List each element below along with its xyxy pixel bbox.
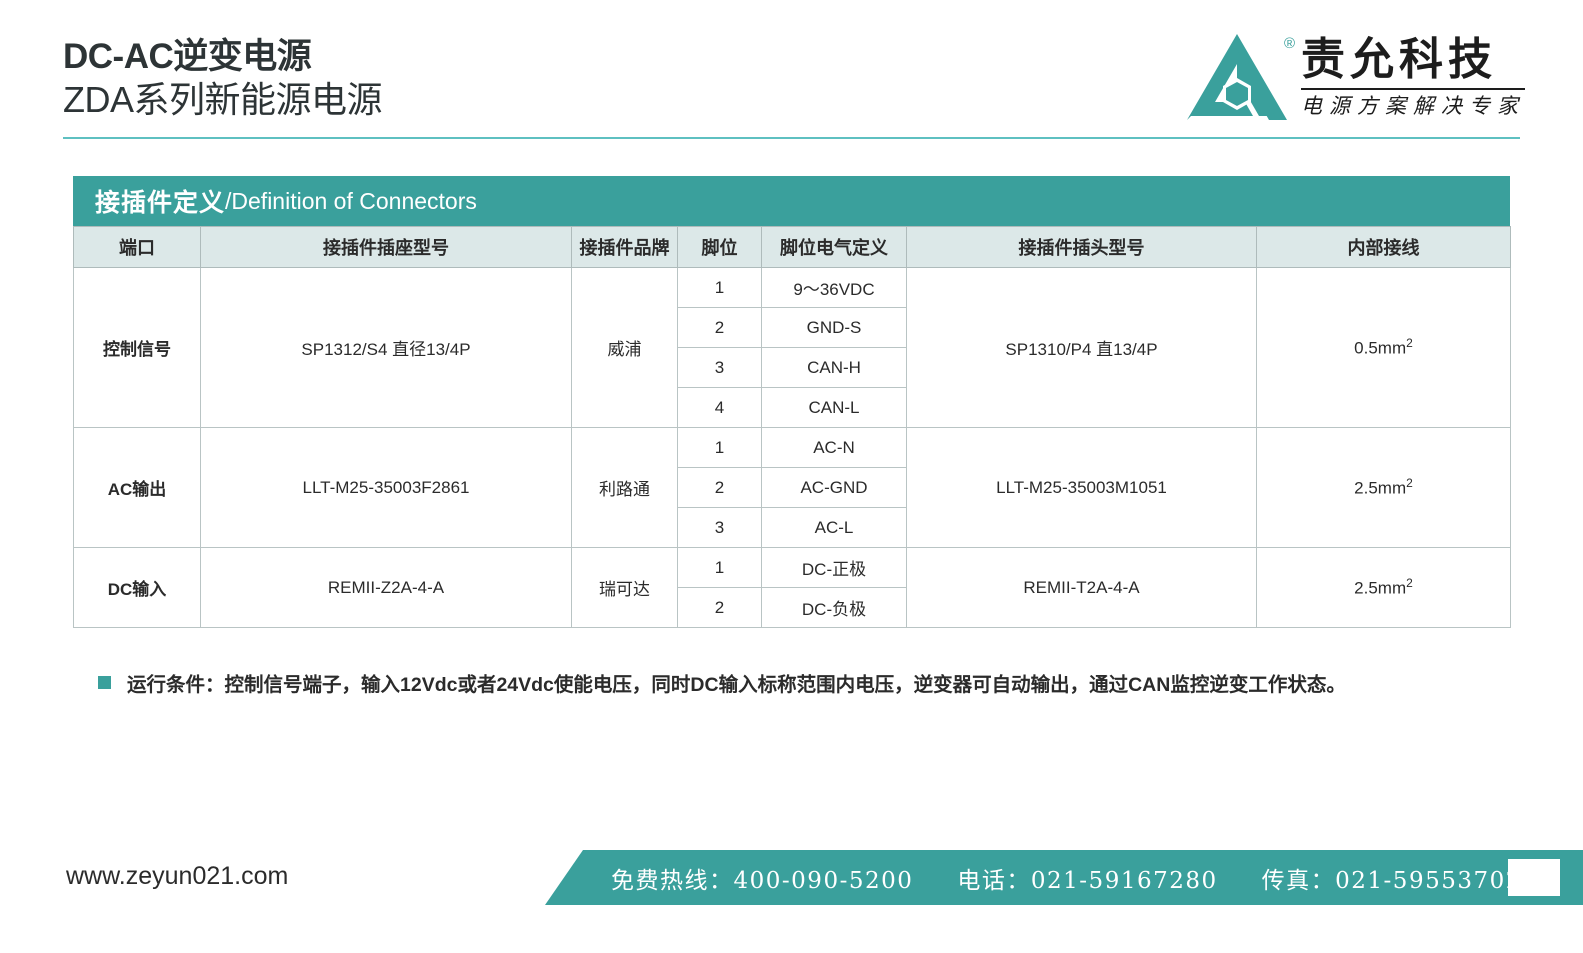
note-text: 运行条件：控制信号端子，输入12Vdc或者24Vdc使能电压，同时DC输入标称范… [127,668,1346,697]
cell-brand: 威浦 [572,268,678,428]
column-header-port: 端口 [74,227,201,268]
table-header-row: 端口 接插件插座型号 接插件品牌 脚位 脚位电气定义 接插件插头型号 内部接线 [74,227,1511,268]
cell-pin-definition: CAN-L [762,388,907,428]
footer-hotline: 免费热线：400-090-5200 [611,861,913,895]
cell-port: 控制信号 [74,268,201,428]
cell-pin-definition: CAN-H [762,348,907,388]
cell-pin-number: 2 [678,588,762,628]
wiring-value: 2.5mm [1354,579,1406,598]
cell-pin-number: 1 [678,268,762,308]
cell-pin-number: 1 [678,428,762,468]
section-title-bar: 接插件定义/Definition of Connectors [73,176,1510,226]
page-title: DC-AC逆变电源 ZDA系列新能源电源 [63,36,382,122]
cell-plug-model: SP1310/P4 直13/4P [907,268,1257,428]
wiring-unit-exponent: 2 [1406,336,1413,350]
cell-socket-model: REMII-Z2A-4-A [201,548,572,628]
cell-pin-number: 3 [678,508,762,548]
company-branding: ® 责允科技 电源方案解决专家 [1183,28,1525,126]
column-header-wiring: 内部接线 [1257,227,1511,268]
datasheet-page: DC-AC逆变电源 ZDA系列新能源电源 ® 责允科技 电源方案解决专家 [0,0,1583,953]
wiring-unit-exponent: 2 [1406,576,1413,590]
title-line-1: DC-AC逆变电源 [63,36,382,78]
cell-socket-model: SP1312/S4 直径13/4P [201,268,572,428]
cell-wiring: 0.5mm2 [1257,268,1511,428]
cell-pin-definition: DC-负极 [762,588,907,628]
cell-pin-number: 2 [678,308,762,348]
page-header: DC-AC逆变电源 ZDA系列新能源电源 ® 责允科技 电源方案解决专家 [0,0,1583,138]
cell-plug-model: REMII-T2A-4-A [907,548,1257,628]
cell-pin-definition: AC-GND [762,468,907,508]
operating-condition-note: 运行条件：控制信号端子，输入12Vdc或者24Vdc使能电压，同时DC输入标称范… [98,668,1346,697]
square-bullet-icon [98,676,111,689]
cell-pin-definition: 9～36VDC [762,268,907,308]
column-header-socket-model: 接插件插座型号 [201,227,572,268]
cell-port: AC输出 [74,428,201,548]
brand-name: 责允科技 [1301,34,1525,86]
cell-wiring: 2.5mm2 [1257,428,1511,548]
cell-pin-definition: AC-L [762,508,907,548]
cell-brand: 利路通 [572,428,678,548]
wiring-value: 2.5mm [1354,479,1406,498]
column-header-pin-definition: 脚位电气定义 [762,227,907,268]
cell-plug-model: LLT-M25-35003M1051 [907,428,1257,548]
cell-pin-number: 1 [678,548,762,588]
cell-pin-number: 4 [678,388,762,428]
column-header-brand: 接插件品牌 [572,227,678,268]
section-title-en: /Definition of Connectors [225,188,477,215]
page-number-box [1508,859,1560,896]
cell-pin-definition: GND-S [762,308,907,348]
column-header-plug-model: 接插件插头型号 [907,227,1257,268]
header-divider [63,137,1520,139]
table-row: AC输出 LLT-M25-35003F2861 利路通 1 AC-N LLT-M… [74,428,1511,468]
table-row: 控制信号 SP1312/S4 直径13/4P 威浦 1 9～36VDC SP13… [74,268,1511,308]
website-link[interactable]: www.zeyun021.com [66,862,288,891]
cell-brand: 瑞可达 [572,548,678,628]
brand-divider [1301,88,1525,90]
wiring-unit-exponent: 2 [1406,476,1413,490]
footer-phone: 电话：021-59167280 [957,861,1217,895]
column-header-pin: 脚位 [678,227,762,268]
cell-pin-number: 2 [678,468,762,508]
title-line-2: ZDA系列新能源电源 [63,78,382,122]
company-logo-icon: ® [1183,28,1291,126]
cell-wiring: 2.5mm2 [1257,548,1511,628]
brand-text-block: 责允科技 电源方案解决专家 [1301,28,1525,119]
cell-pin-number: 3 [678,348,762,388]
table-row: DC输入 REMII-Z2A-4-A 瑞可达 1 DC-正极 REMII-T2A… [74,548,1511,588]
brand-slogan: 电源方案解决专家 [1301,93,1525,119]
cell-pin-definition: DC-正极 [762,548,907,588]
wiring-value: 0.5mm [1354,339,1406,358]
connector-definition-table: 端口 接插件插座型号 接插件品牌 脚位 脚位电气定义 接插件插头型号 内部接线 … [73,226,1511,628]
cell-pin-definition: AC-N [762,428,907,468]
section-title-cn: 接插件定义 [95,183,225,219]
footer-fax: 传真：021-59553702 [1262,861,1522,895]
registered-trademark-icon: ® [1284,36,1295,51]
cell-socket-model: LLT-M25-35003F2861 [201,428,572,548]
footer-contact-banner: 免费热线：400-090-5200 电话：021-59167280 传真：021… [545,850,1583,905]
connectors-section: 接插件定义/Definition of Connectors 端口 接插件插座型… [73,176,1510,628]
cell-port: DC输入 [74,548,201,628]
